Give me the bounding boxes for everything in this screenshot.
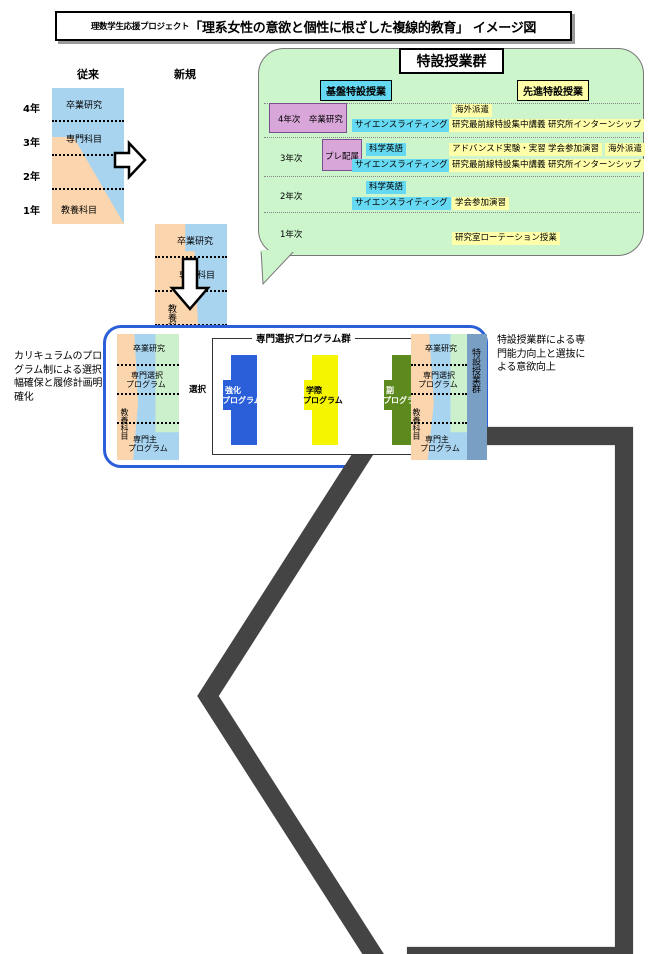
- bubble-row-divider-3-2: [264, 176, 640, 177]
- year3-label: 3年次: [280, 152, 302, 164]
- year4-adv-item-0: 海外派遣: [452, 104, 492, 117]
- program-label-interdisciplinary-line2: プログラム: [303, 396, 343, 406]
- bl-label-main-2: プログラム: [128, 443, 168, 454]
- br-label-liberal-vertical: 教養科目: [411, 408, 422, 440]
- year3-adv-item-3: 研究最前線特設集中講義: [449, 159, 549, 172]
- year3-adv-item-0: アドバンスド実験・実習: [449, 143, 549, 156]
- year-label-1: 1年: [14, 202, 40, 217]
- br-label-graduation: 卒業研究: [425, 343, 457, 354]
- year3-base-item-1: サイエンスライティング: [352, 159, 451, 172]
- bubble-tail: [259, 250, 299, 286]
- bottom-right-curriculum-column: 卒業研究 専門選択 プログラム 専門主 プログラム 教養科目 特設授業群: [411, 334, 487, 460]
- year-label-3: 3年: [14, 134, 40, 149]
- special-course-group-title: 特設授業群: [399, 48, 504, 74]
- year-label-4: 4年: [14, 100, 40, 115]
- bl-divider-1: [117, 364, 179, 366]
- year1-adv-item-0: 研究室ローテーション授業: [452, 232, 560, 245]
- year3-adv-item-4: 研究所インターンシップ: [545, 159, 644, 172]
- br-label-select-2: プログラム: [418, 379, 458, 390]
- br-label-main-2: プログラム: [420, 443, 460, 454]
- tag-foundation-courses: 基盤特設授業: [320, 80, 392, 101]
- year3-adv-item-2: 海外派遣: [605, 143, 645, 156]
- program-group-frame-title: 専門選択プログラム群: [252, 331, 355, 345]
- year4-base-item-0: サイエンスライティング: [352, 119, 451, 132]
- br-divider-2: [411, 393, 467, 395]
- year4-adv-item-2: 研究所インターンシップ: [545, 119, 644, 132]
- year-label-2: 2年: [14, 168, 40, 183]
- right-caption: 特設授業群による専門能力向上と選抜による意欲向上: [497, 334, 589, 375]
- page-title-large: 「理系女性の意欲と個性に根ざした複線的教育」 イメージ図: [189, 17, 536, 36]
- year3-base-item-0: 科学英語: [366, 143, 406, 156]
- program-label-interdisciplinary-line1: 学際: [306, 386, 322, 396]
- year2-adv-item-0: 学会参加演習: [452, 197, 509, 210]
- transform-arrow-right: [113, 140, 147, 180]
- program-label-sub-line1: 副: [386, 386, 394, 396]
- old-label-major: 専門科目: [66, 132, 102, 145]
- bl-divider-2: [117, 393, 179, 395]
- year2-base-item-1: サイエンスライティング: [352, 197, 451, 210]
- selection-arrow-label: 選択: [189, 383, 206, 395]
- br-divider-1: [411, 364, 467, 366]
- divider-4-3: [52, 120, 124, 122]
- bubble-row-divider-2-1: [264, 212, 640, 213]
- old-label-liberal: 教養科目: [61, 203, 97, 216]
- new-curriculum-header: 新規: [145, 66, 225, 82]
- bl-label-liberal-vertical: 教養科目: [119, 408, 130, 440]
- new-label-graduation: 卒業研究: [177, 234, 213, 247]
- year2-base-item-0: 科学英語: [366, 181, 406, 194]
- old-label-graduation: 卒業研究: [66, 98, 102, 111]
- bubble-row-divider-4-3: [264, 137, 640, 138]
- year4-graduation-label: 4年次 卒業研究: [278, 113, 343, 125]
- bl-label-graduation: 卒業研究: [133, 343, 165, 354]
- page-title: 理数学生応援プロジェクト 「理系女性の意欲と個性に根ざした複線的教育」 イメージ…: [55, 11, 572, 41]
- bl-label-select-2: プログラム: [126, 379, 166, 390]
- year1-label: 1年次: [280, 228, 302, 240]
- left-caption: カリキュラムのプログラム制による選択幅確保と履修計画明確化: [14, 350, 106, 404]
- year2-label: 2年次: [280, 190, 302, 202]
- transform-arrow-down: [168, 256, 212, 312]
- old-curriculum-header: 従来: [48, 66, 128, 82]
- program-label-enhanced-line1: 強化: [225, 386, 241, 396]
- br-label-special-vertical: 特設授業群: [469, 348, 482, 393]
- year4-adv-item-1: 研究最前線特設集中講義: [449, 119, 549, 132]
- divider-2-1: [52, 188, 124, 190]
- program-label-enhanced-line2: プログラム: [222, 396, 262, 406]
- page-title-small: 理数学生応援プロジェクト: [91, 20, 189, 32]
- tag-advanced-courses: 先進特設授業: [517, 80, 589, 101]
- bottom-left-curriculum-column: 卒業研究 専門選択 プログラム 専門主 プログラム 教養科目: [117, 334, 179, 460]
- year3-adv-item-1: 学会参加演習: [545, 143, 602, 156]
